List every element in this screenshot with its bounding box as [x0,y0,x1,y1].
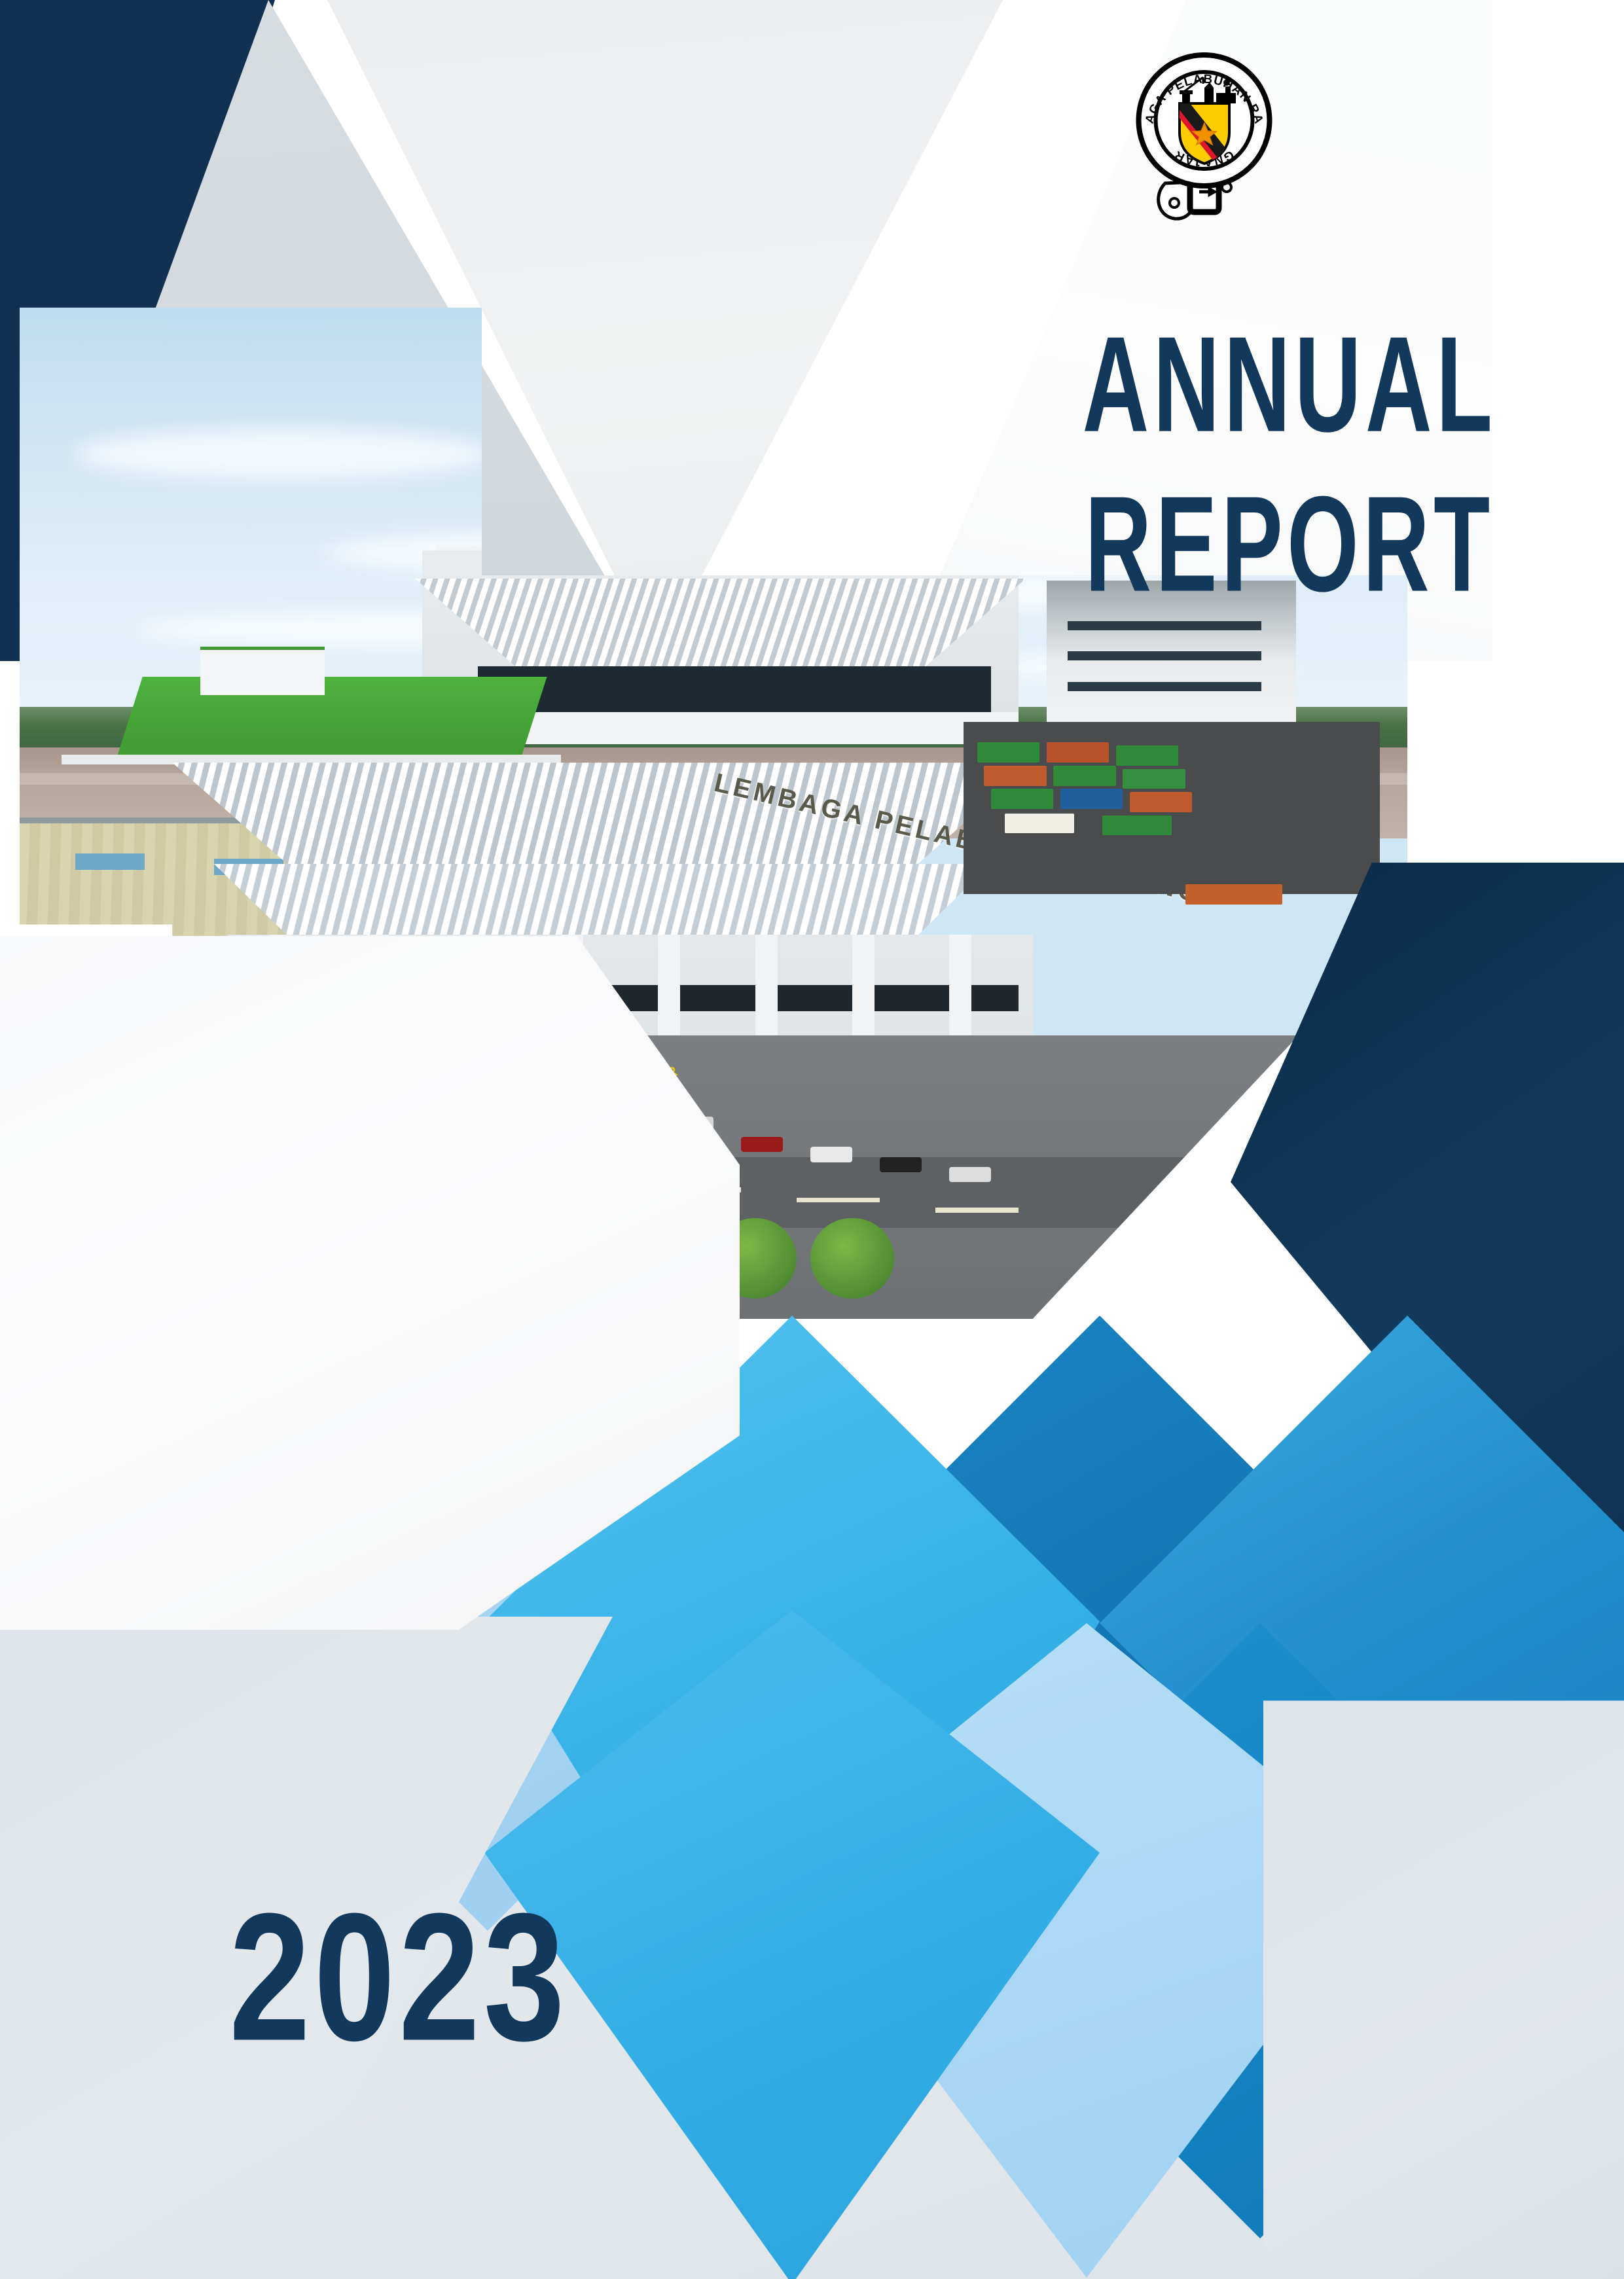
cover-year: 2023 [229,1872,568,2081]
photo-upper-sunshade-slats [415,579,1026,670]
cover-title: ANNUAL REPORT [982,308,1597,622]
title-line-report: REPORT [1043,453,1536,636]
title-line-annual: ANNUAL [1043,294,1536,477]
lembaga-pelabuhan-rajang-emblem-icon: LEMBAGA PELABUHAN RAJANG GNAJAR [1127,41,1281,230]
gray-wedge-bottom-right [1263,1649,1624,2279]
photo-rooftop-garden [117,677,547,758]
annual-report-cover: LEMBAGA PELABUHAN RAJANG [0,0,1624,2279]
